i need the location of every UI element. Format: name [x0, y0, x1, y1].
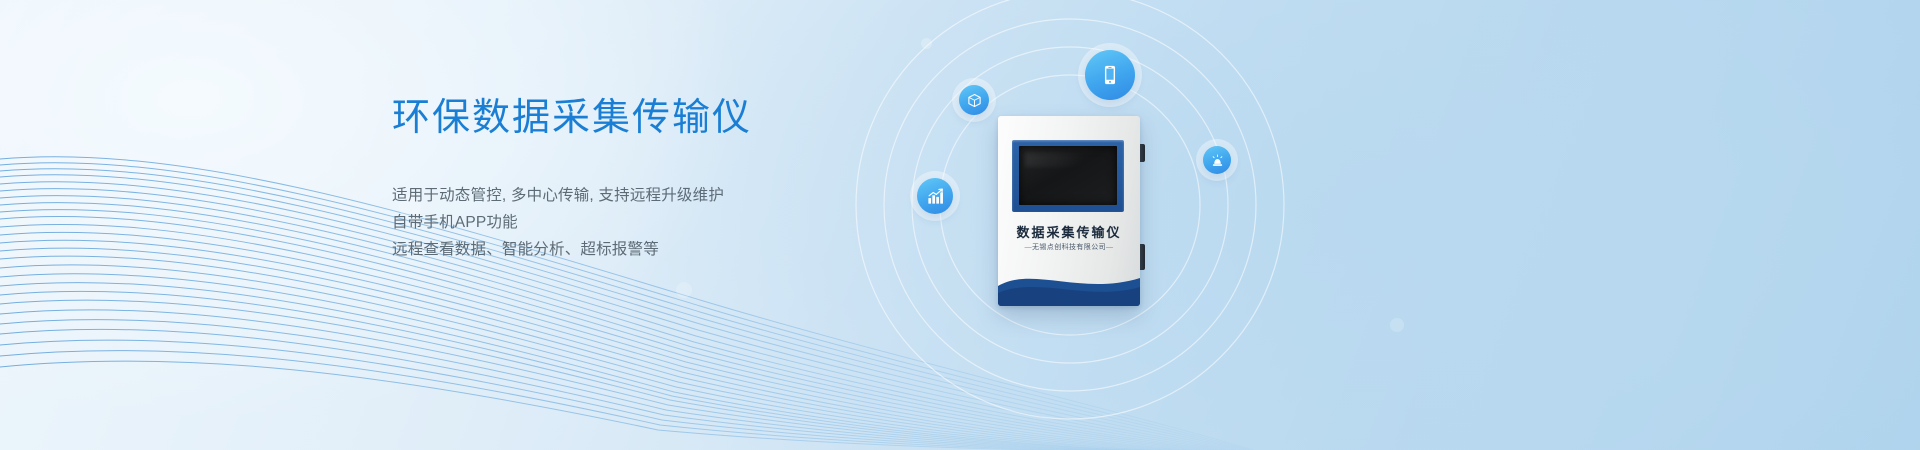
device-panel-title: 数据采集传输仪 [998, 222, 1140, 241]
device-screen-bezel [1012, 140, 1124, 212]
banner-text-block: 环保数据采集传输仪 适用于动态管控, 多中心传输, 支持远程升级维护 自带手机A… [392, 96, 912, 263]
device-body: 数据采集传输仪 —无锡点创科技有限公司— [998, 116, 1140, 306]
bar-chart-icon[interactable] [917, 178, 953, 214]
subtitle-line-2: 自带手机APP功能 [392, 209, 912, 236]
bokeh-dot [1390, 318, 1404, 332]
page-title: 环保数据采集传输仪 [392, 96, 912, 142]
device-screen [1019, 146, 1117, 205]
device-panel-subtitle: —无锡点创科技有限公司— [998, 242, 1140, 252]
alarm-siren-icon[interactable] [1203, 146, 1231, 174]
subtitle-line-1: 适用于动态管控, 多中心传输, 支持远程升级维护 [392, 182, 912, 209]
product-banner: 环保数据采集传输仪 适用于动态管控, 多中心传输, 支持远程升级维护 自带手机A… [0, 0, 1920, 450]
subtitle-line-3: 远程查看数据、智能分析、超标报警等 [392, 236, 912, 263]
device-bottom-wave [998, 262, 1140, 306]
box-package-icon[interactable] [959, 85, 989, 115]
bokeh-dot [921, 38, 932, 49]
background-wave-lines [0, 0, 1920, 450]
product-device-image: 数据采集传输仪 —无锡点创科技有限公司— [998, 116, 1140, 306]
bokeh-dot [676, 282, 692, 298]
mobile-phone-icon[interactable] [1085, 50, 1135, 100]
decorative-arc-rings [0, 0, 1920, 450]
